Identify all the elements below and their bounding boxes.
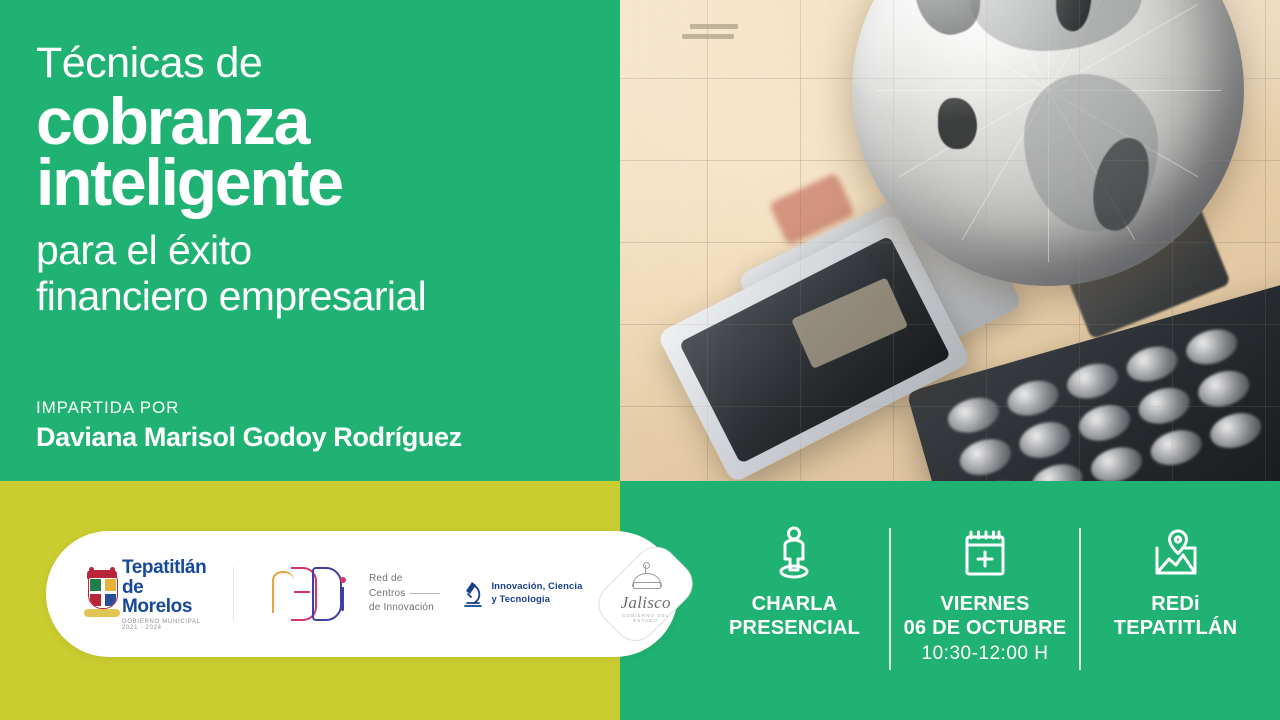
tepatitlan-line-2: de Morelos [122,578,215,616]
page-title: Técnicas de cobranza inteligente para el… [36,42,596,320]
date-line-2: 06 DE OCTUBRE [904,617,1067,639]
redi-line-3: de Innovación [369,601,440,616]
logo-redi: Red de Centros de Innovación [272,565,440,623]
title-line-1: Técnicas de [36,42,596,86]
venue-line-2: TEPATITLÁN [1114,617,1237,639]
speaker-name: Daviana Marisol Godoy Rodríguez [36,422,462,453]
redi-line-2: Centros [369,588,405,599]
jalisco-name: Jalisco [614,594,677,611]
info-column-modality: CHARLA PRESENCIAL [700,520,889,640]
tepatitlan-line-1: Tepatitlán [122,558,215,577]
person-standing-icon [773,526,815,580]
paper-scribble-marks [682,24,738,46]
title-line-4b: financiero empresarial [36,274,596,320]
speaker-label: IMPARTIDA POR [36,398,462,418]
modality-line-2: PRESENCIAL [729,617,860,639]
calendar-plus-icon [962,528,1008,578]
microscope-icon [462,579,484,609]
logo-divider [233,567,234,621]
screen-highlight [791,277,908,369]
ict-line-1: Innovación, Ciencia [491,581,582,594]
map-pin-icon [1152,528,1200,578]
venue-line-1: REDi [1151,593,1200,615]
hero-photo [620,0,1280,481]
date-line-1: VIERNES [940,593,1029,615]
title-line-4a: para el éxito [36,228,596,274]
ict-line-2: y Tecnología [491,594,582,607]
speaker-block: IMPARTIDA POR Daviana Marisol Godoy Rodr… [36,398,462,453]
info-column-venue: REDi TEPATITLÁN [1081,520,1270,640]
date-line-3: 10:30-12:00 H [904,643,1067,666]
title-panel: Técnicas de cobranza inteligente para el… [0,0,620,481]
event-info-panel: CHARLA PRESENCIAL VIERNES 06 DE OCTUBRE [700,520,1270,685]
tepatitlan-line-3: GOBIERNO MUNICIPAL 2021 - 2024 [122,619,215,631]
modality-line-1: CHARLA [752,593,838,615]
logo-ict: Innovación, Ciencia y Tecnología [462,579,582,609]
jalisco-sub: GOBIERNO DEL ESTADO [614,614,677,623]
title-line-3: inteligente [36,149,596,216]
coat-of-arms-icon [82,570,113,618]
redi-line-1: Red de [369,572,440,587]
crown-icon [628,565,662,591]
logo-tepatitlan: Tepatitlán de Morelos GOBIERNO MUNICIPAL… [82,558,215,631]
info-column-date: VIERNES 06 DE OCTUBRE 10:30-12:00 H [891,520,1080,666]
redi-wordmark-icon [272,565,358,623]
event-poster: Técnicas de cobranza inteligente para el… [0,0,1280,720]
sponsor-logo-bar: Tepatitlán de Morelos GOBIERNO MUNICIPAL… [46,531,678,657]
redi-rule [410,593,440,594]
